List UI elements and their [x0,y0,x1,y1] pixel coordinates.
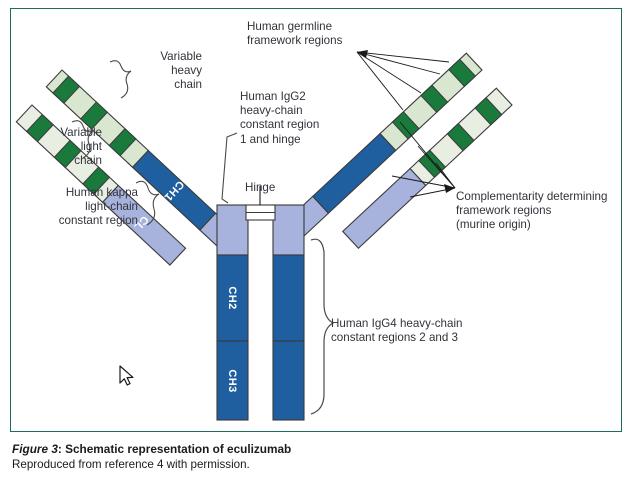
ch2-label: CH2 [226,286,238,309]
label-variable-light-chain: Variable light chain [12,126,102,169]
mouse-cursor-icon [120,366,133,385]
caption-title-text: : Schematic representation of eculizumab [58,442,291,456]
ch3-label: CH3 [226,369,238,392]
figure-caption: Figure 3: Schematic representation of ec… [12,441,612,473]
label-kappa-light-chain-constant: Human kappa light-chain constant region [20,186,138,229]
caption-figure-number: Figure 3 [12,442,58,456]
label-cdr-murine-origin: Complementarity determining framework re… [456,190,621,233]
label-igg4-constant-regions: Human IgG4 heavy-chain constant regions … [331,317,516,345]
label-hinge: Hinge [245,181,295,195]
ch2-segment-right [273,255,304,341]
caption-credit-line: Reproduced from reference 4 with permiss… [12,457,612,473]
label-igg2-constant-region: Human IgG2 heavy-chain constant region 1… [240,90,350,147]
brace-igg4 [311,239,333,414]
label-variable-heavy-chain: Variable heavy chain [112,50,202,93]
label-germline-framework: Human germline framework regions [247,20,377,48]
right-hinge-stem [273,205,304,255]
ch3-segment-right [273,341,304,420]
left-hinge-stem [217,205,248,255]
leader-igg2 [222,133,237,203]
caption-title-line: Figure 3: Schematic representation of ec… [12,441,612,457]
